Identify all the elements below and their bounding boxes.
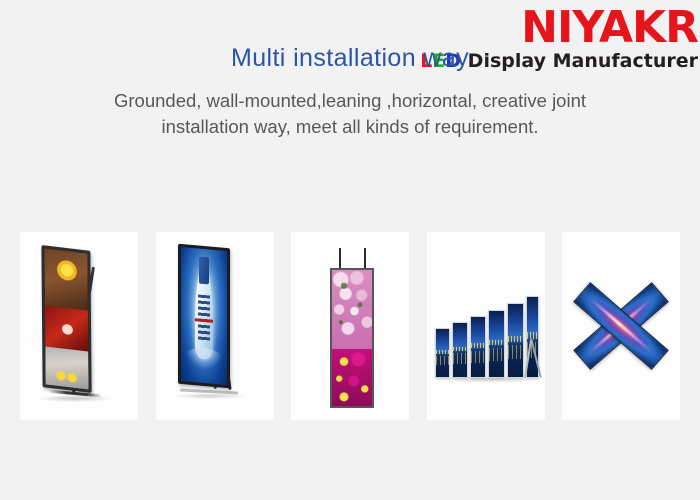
product-image-grounded-floor-stand [20, 232, 138, 420]
led-poster-screen [41, 245, 91, 393]
product-image-leaning-stand [156, 232, 274, 420]
gallery-card-grounded-floor-stand[interactable] [20, 232, 138, 420]
led-panel-1 [435, 328, 450, 378]
product-image-hanging-suspended [291, 232, 409, 420]
page-subtitle: Grounded, wall-mounted,leaning ,horizont… [30, 88, 670, 141]
screen-content-red-giftbox [45, 306, 88, 352]
led-poster-screen [178, 244, 230, 389]
led-panel-2 [452, 322, 468, 378]
screen-content-magenta-flowers [332, 349, 372, 406]
gallery-card-leaning-stand[interactable] [156, 232, 274, 420]
led-panel-3 [470, 316, 486, 378]
gallery-card-horizontal-joint-array[interactable] [427, 232, 545, 420]
screen-content-gold-flower [44, 248, 87, 310]
led-poster-array [433, 288, 539, 378]
led-poster-screen [330, 268, 374, 408]
gallery-card-hanging-suspended[interactable] [291, 232, 409, 420]
subtitle-line-2: installation way, meet all kinds of requ… [30, 114, 670, 140]
gallery-card-creative-cross-joint[interactable] [562, 232, 680, 420]
screen-content-bottle-neck [199, 257, 208, 285]
led-panel-5 [507, 303, 524, 378]
product-image-creative-cross-joint [562, 232, 680, 420]
hanging-cable-left [339, 248, 341, 270]
hanging-cable-right [364, 248, 366, 270]
screen-content-pale-pink-flowers [332, 270, 372, 349]
page-header: NIYAKR LED Display Manufacturer Multi in… [0, 0, 700, 150]
page-title: Multi installation way [0, 44, 700, 73]
product-gallery [20, 232, 680, 420]
led-panel-4 [488, 310, 505, 378]
subtitle-line-1: Grounded, wall-mounted,leaning ,horizont… [30, 88, 670, 114]
product-image-horizontal-joint-array [427, 232, 545, 420]
screen-content-earrings [45, 346, 88, 389]
